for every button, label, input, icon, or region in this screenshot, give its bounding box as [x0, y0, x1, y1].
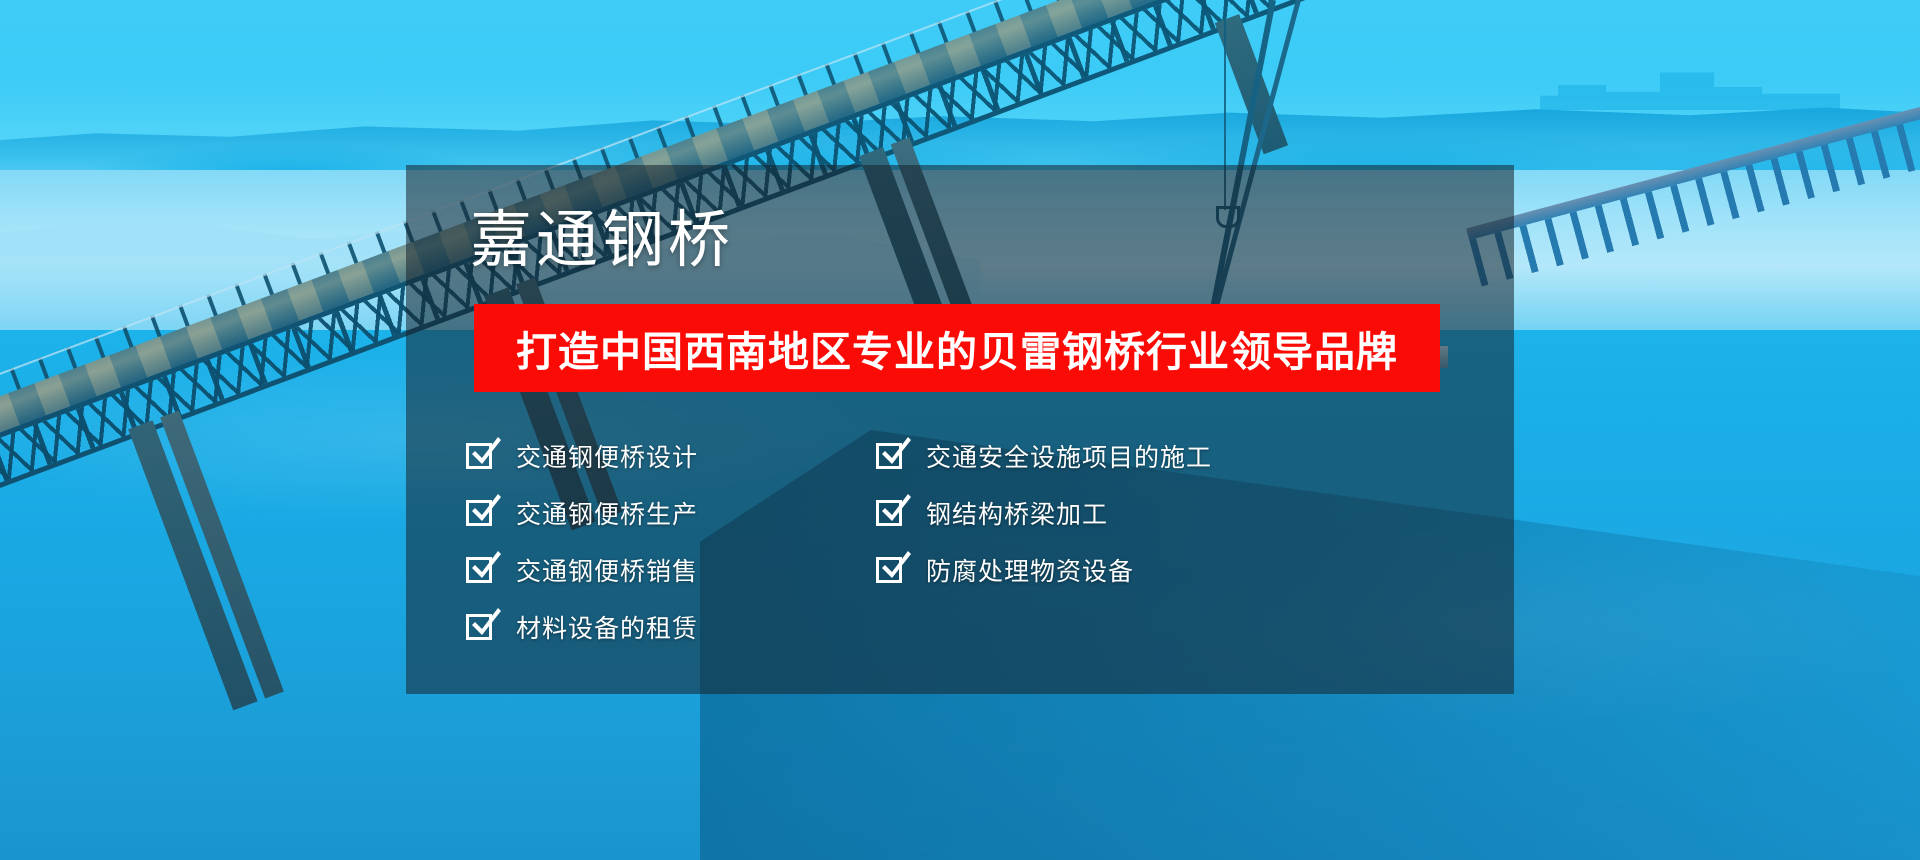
checkbox-checked-icon	[876, 500, 902, 526]
checkbox-checked-icon	[876, 443, 902, 469]
list-item[interactable]: 交通安全设施项目的施工	[876, 427, 1436, 484]
list-item[interactable]: 钢结构桥梁加工	[876, 484, 1436, 541]
services-column-right: 交通安全设施项目的施工 钢结构桥梁加工	[876, 427, 1436, 655]
hero-banner: 嘉通钢桥 打造中国西南地区专业的贝雷钢桥行业领导品牌 交通钢便桥设计	[0, 0, 1920, 860]
checkbox-checked-icon	[466, 500, 492, 526]
checkbox-checked-icon	[466, 557, 492, 583]
list-item-label: 交通钢便桥销售	[516, 552, 698, 588]
list-item-label: 防腐处理物资设备	[926, 552, 1134, 588]
services-column-left: 交通钢便桥设计 交通钢便桥生产 交通	[466, 427, 876, 655]
list-item[interactable]: 防腐处理物资设备	[876, 541, 1436, 598]
list-item[interactable]: 交通钢便桥生产	[466, 484, 876, 541]
list-item-label: 材料设备的租赁	[516, 609, 698, 645]
list-item-label: 交通钢便桥设计	[516, 438, 698, 474]
checkbox-checked-icon	[466, 614, 492, 640]
content-overlay-panel: 嘉通钢桥 打造中国西南地区专业的贝雷钢桥行业领导品牌 交通钢便桥设计	[406, 165, 1514, 694]
list-item-label: 交通钢便桥生产	[516, 495, 698, 531]
page-title: 嘉通钢桥	[470, 210, 734, 272]
checkbox-checked-icon	[876, 557, 902, 583]
list-item[interactable]: 交通钢便桥设计	[466, 427, 876, 484]
list-item-label: 交通安全设施项目的施工	[926, 438, 1212, 474]
checkbox-checked-icon	[466, 443, 492, 469]
slogan-banner: 打造中国西南地区专业的贝雷钢桥行业领导品牌	[474, 304, 1440, 392]
services-list: 交通钢便桥设计 交通钢便桥生产 交通	[466, 427, 1476, 655]
slogan-text: 打造中国西南地区专业的贝雷钢桥行业领导品牌	[516, 318, 1398, 378]
list-item-label: 钢结构桥梁加工	[926, 495, 1108, 531]
list-item[interactable]: 交通钢便桥销售	[466, 541, 876, 598]
list-item[interactable]: 材料设备的租赁	[466, 598, 876, 655]
